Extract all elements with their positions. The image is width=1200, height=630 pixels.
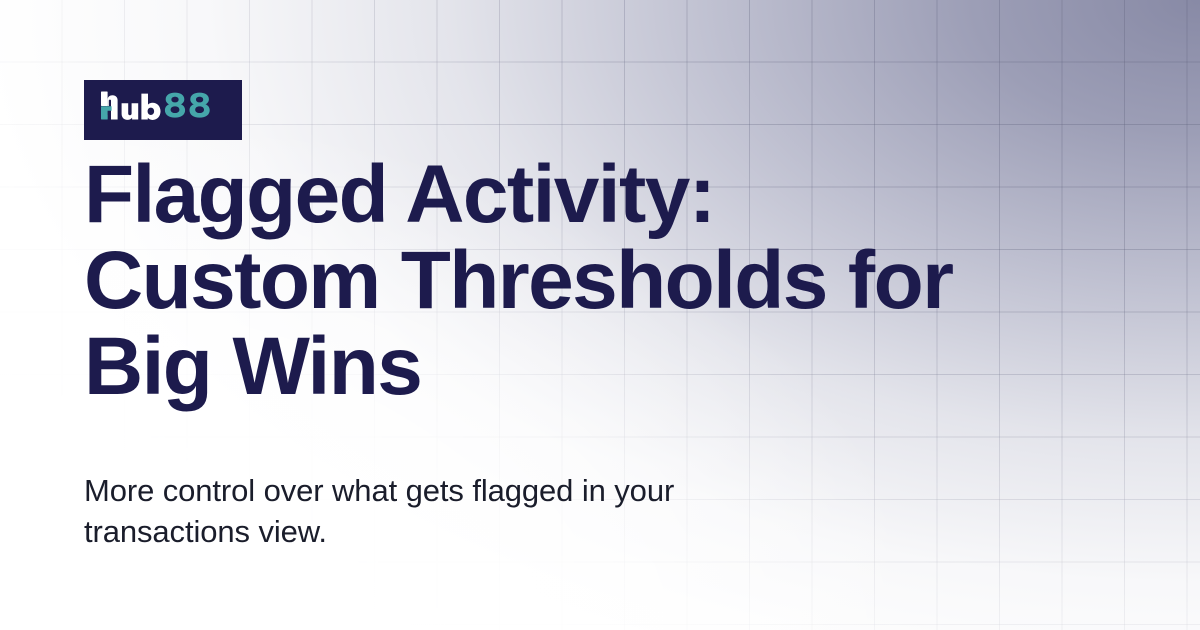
page-title: Flagged Activity: Custom Thresholds for … bbox=[84, 152, 1154, 410]
hub88-wordmark-logo-icon bbox=[99, 88, 227, 133]
hero-banner: Flagged Activity: Custom Thresholds for … bbox=[0, 0, 1200, 630]
hero-content: Flagged Activity: Custom Thresholds for … bbox=[0, 0, 1200, 630]
hub88-logo bbox=[84, 80, 242, 140]
page-subtitle: More control over what gets flagged in y… bbox=[84, 470, 874, 552]
